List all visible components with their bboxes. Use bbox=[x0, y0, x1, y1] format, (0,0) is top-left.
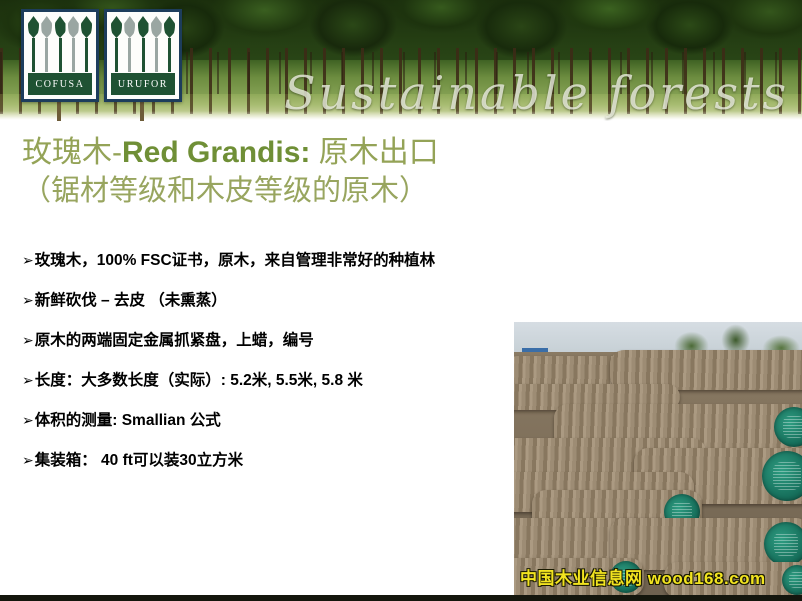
tree-icon bbox=[41, 16, 52, 72]
bullet-list: ➢ 玫瑰木，100% FSC证书，原木，来自管理非常好的种植林 ➢ 新鲜砍伐 –… bbox=[22, 250, 522, 490]
log-stack-photo: 中国木业信息网 wood168.com bbox=[514, 322, 802, 595]
page-title: 玫瑰木-Red Grandis: 原木出口 bbox=[22, 134, 582, 172]
tree-icons-urufor bbox=[111, 16, 175, 74]
arrow-bullet-icon: ➢ bbox=[22, 370, 34, 392]
signpost-cofusa bbox=[57, 100, 61, 121]
logo-label-urufor: URUFOR bbox=[111, 73, 175, 95]
list-item-label: 长度：大多数长度（实际）: 5.2米, 5.5米, 5.8 米 bbox=[35, 370, 363, 392]
arrow-bullet-icon: ➢ bbox=[22, 330, 34, 352]
list-item: ➢ 体积的测量: Smallian 公式 bbox=[22, 410, 522, 432]
arrow-bullet-icon: ➢ bbox=[22, 250, 34, 272]
list-item-label: 集装箱： 40 ft可以装30立方米 bbox=[35, 450, 243, 472]
tree-icon bbox=[138, 16, 149, 72]
tree-icon bbox=[28, 16, 39, 72]
title-cn-suffix: 原木出口 bbox=[310, 136, 438, 169]
tree-icon bbox=[111, 16, 122, 72]
list-item: ➢ 长度：大多数长度（实际）: 5.2米, 5.5米, 5.8 米 bbox=[22, 370, 522, 392]
list-item: ➢ 玫瑰木，100% FSC证书，原木，来自管理非常好的种植林 bbox=[22, 250, 522, 272]
signpost-urufor bbox=[140, 100, 144, 121]
site-watermark: 中国木业信息网 wood168.com bbox=[520, 564, 766, 589]
bottom-edge-strip bbox=[0, 595, 802, 601]
logo-cofusa: COFUSA bbox=[21, 9, 99, 102]
tree-icon bbox=[164, 16, 175, 72]
tree-icon bbox=[81, 16, 92, 72]
logo-urufor: URUFOR bbox=[104, 9, 182, 102]
list-item-label: 原木的两端固定金属抓紧盘，上蜡，编号 bbox=[35, 330, 314, 352]
list-item-label: 体积的测量: Smallian 公式 bbox=[35, 410, 221, 432]
list-item-label: 新鲜砍伐 – 去皮 （未熏蒸） bbox=[35, 290, 227, 312]
tree-icon bbox=[151, 16, 162, 72]
title-en: Red Grandis: bbox=[122, 136, 310, 169]
list-item: ➢ 原木的两端固定金属抓紧盘，上蜡，编号 bbox=[22, 330, 522, 352]
arrow-bullet-icon: ➢ bbox=[22, 450, 34, 472]
slide-canvas: Sustainable forests COFUSA URUFOR bbox=[0, 0, 802, 601]
list-item: ➢ 集装箱： 40 ft可以装30立方米 bbox=[22, 450, 522, 472]
tree-icon bbox=[68, 16, 79, 72]
logo-label-cofusa: COFUSA bbox=[28, 73, 92, 95]
slide-title-block: 玫瑰木-Red Grandis: 原木出口 （锯材等级和木皮等级的原木） bbox=[22, 134, 582, 210]
arrow-bullet-icon: ➢ bbox=[22, 410, 34, 432]
page-subtitle: （锯材等级和木皮等级的原木） bbox=[22, 172, 582, 210]
title-cn-prefix: 玫瑰木- bbox=[22, 136, 122, 169]
arrow-bullet-icon: ➢ bbox=[22, 290, 34, 312]
tree-icons-cofusa bbox=[28, 16, 92, 74]
list-item: ➢ 新鲜砍伐 – 去皮 （未熏蒸） bbox=[22, 290, 522, 312]
tree-icon bbox=[55, 16, 66, 72]
header-banner-image: Sustainable forests COFUSA URUFOR bbox=[0, 0, 802, 121]
list-item-label: 玫瑰木，100% FSC证书，原木，来自管理非常好的种植林 bbox=[35, 250, 435, 272]
tree-icon bbox=[124, 16, 135, 72]
sustainable-forests-overlay-text: Sustainable forests bbox=[284, 70, 789, 116]
